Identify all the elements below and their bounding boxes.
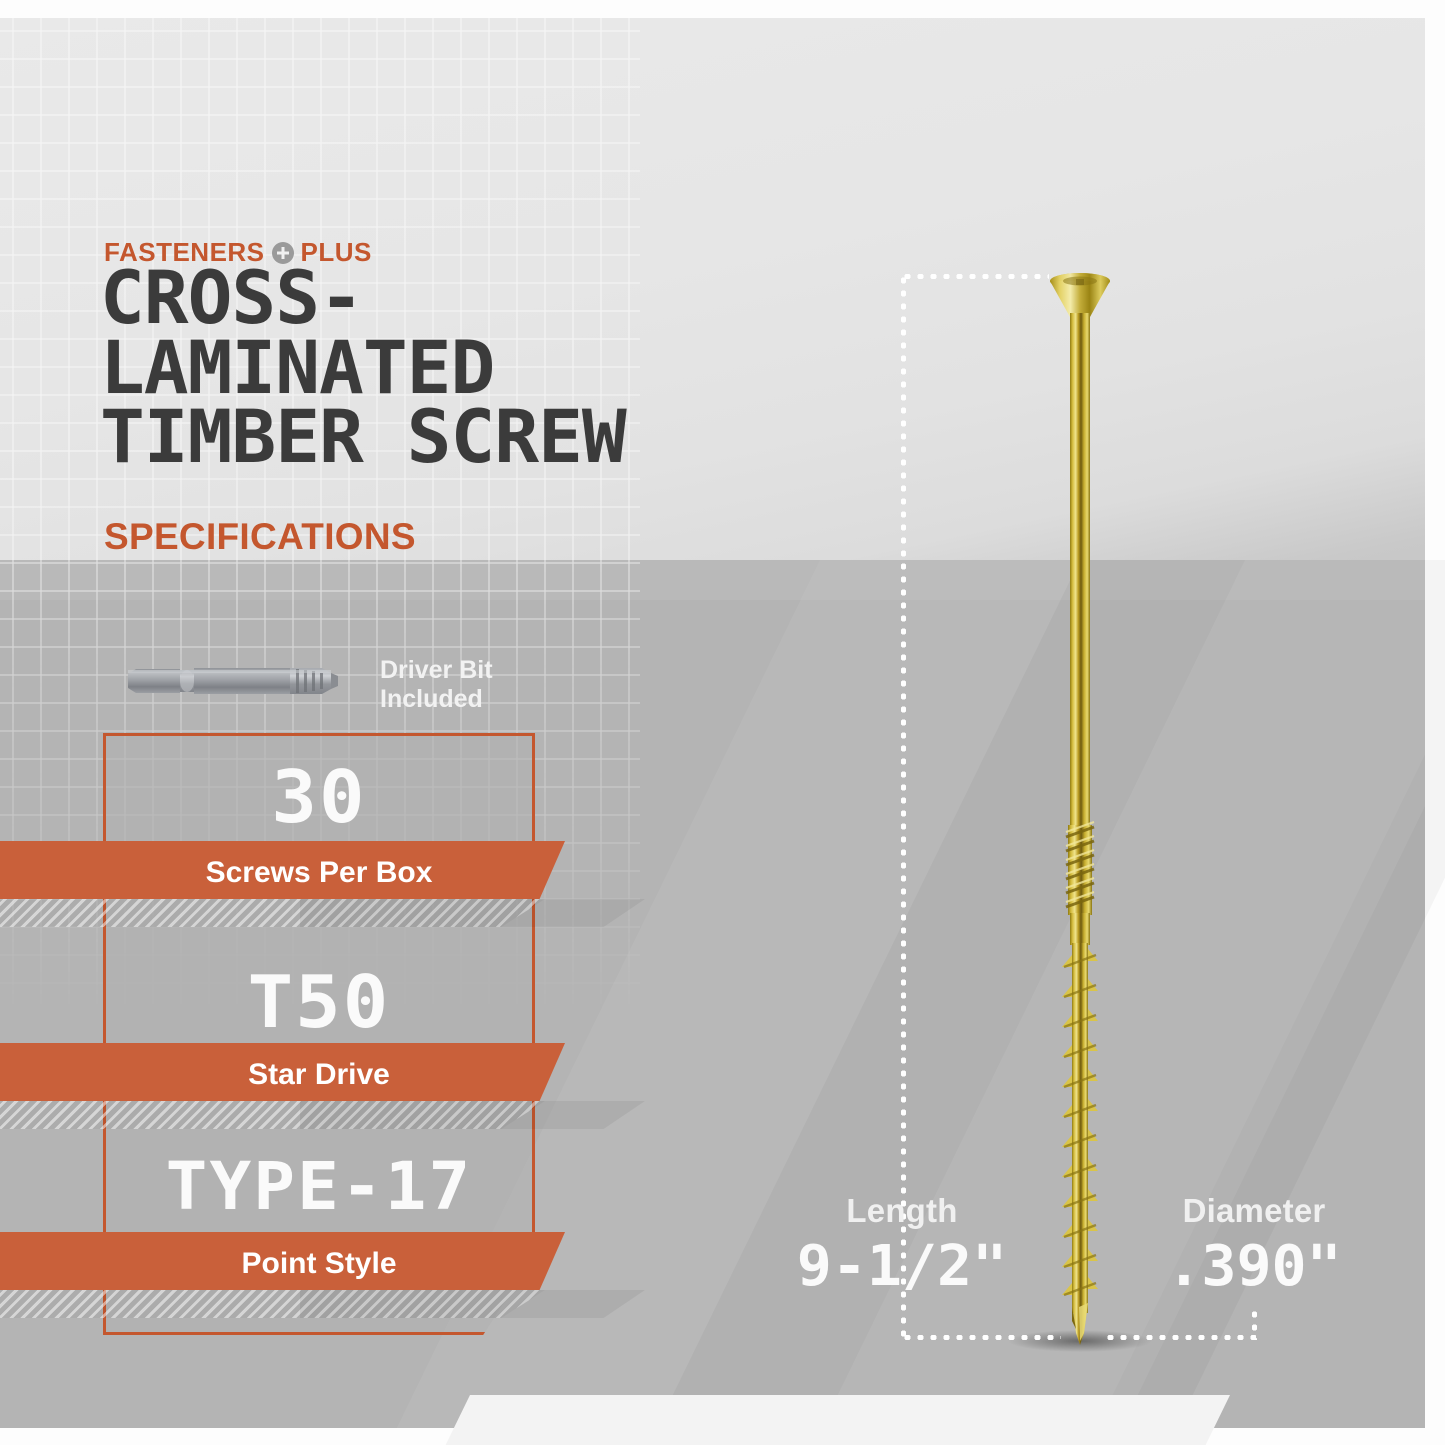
guide-line-top bbox=[901, 274, 1049, 279]
page-title: CROSS- LAMINATED TIMBER SCREW bbox=[100, 264, 957, 473]
guide-line-left-vertical bbox=[901, 274, 906, 1339]
title-line-1: CROSS- bbox=[100, 264, 957, 334]
dimension-length: Length 9-1/2" bbox=[790, 1192, 1014, 1299]
specification-graphic: FASTENERS PLUS CROSS- LAMINATED TIMBER S… bbox=[0, 0, 1445, 1445]
guide-line-right-vertical bbox=[1252, 1308, 1257, 1340]
spec-value-point-style: TYPE-17 bbox=[92, 1148, 546, 1225]
spec-label-star-drive: Star Drive bbox=[103, 1058, 535, 1092]
title-line-2: LAMINATED bbox=[100, 334, 957, 404]
ribbon-shadow-1b bbox=[300, 899, 645, 927]
dimension-diameter-value: .390" bbox=[1119, 1234, 1389, 1299]
guide-line-bottom-left bbox=[901, 1335, 1061, 1340]
guide-line-bottom-right bbox=[1104, 1335, 1256, 1340]
ribbon-shadow-2b bbox=[300, 1101, 645, 1129]
ribbon-shadow-3b bbox=[300, 1290, 645, 1318]
torx-driver-bit-icon bbox=[126, 661, 366, 701]
page-subtitle: SPECIFICATIONS bbox=[104, 516, 416, 558]
dimension-diameter: Diameter .390" bbox=[1124, 1192, 1384, 1299]
dimension-length-value: 9-1/2" bbox=[786, 1234, 1019, 1299]
spec-label-screws-per-box: Screws Per Box bbox=[103, 856, 535, 890]
title-line-3: TIMBER SCREW bbox=[100, 403, 957, 473]
driver-bit-label-line2: Included bbox=[380, 685, 600, 714]
driver-bit-label: Driver Bit Included bbox=[380, 656, 600, 713]
spec-value-screws-per-box: 30 bbox=[92, 755, 546, 839]
dimension-diameter-label: Diameter bbox=[1124, 1192, 1384, 1230]
screw-product-image bbox=[980, 255, 1180, 1355]
driver-bit-label-line1: Driver Bit bbox=[380, 656, 600, 685]
spec-label-point-style: Point Style bbox=[103, 1247, 535, 1281]
dimension-length-label: Length bbox=[790, 1192, 1014, 1230]
spec-value-star-drive: T50 bbox=[92, 960, 546, 1044]
